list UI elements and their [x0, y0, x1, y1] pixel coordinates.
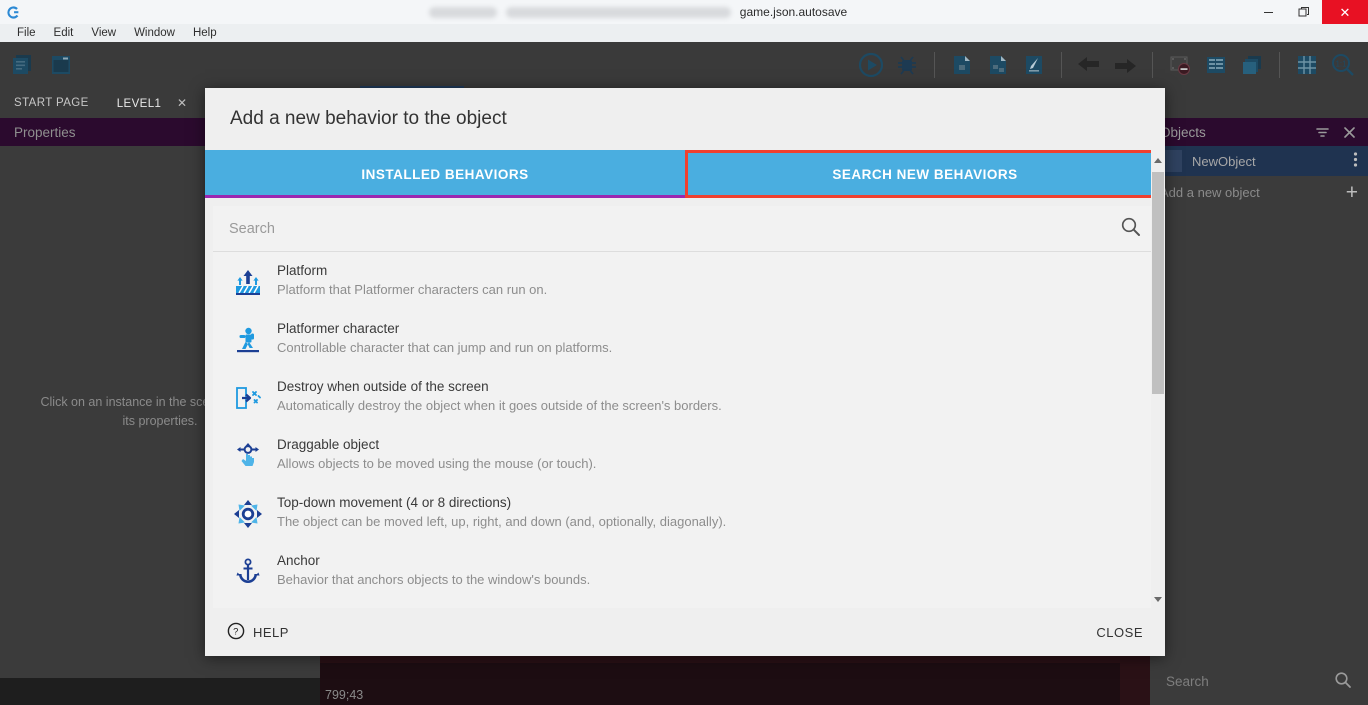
dialog-tab-bar: INSTALLED BEHAVIORS SEARCH NEW BEHAVIORS: [205, 150, 1165, 198]
behavior-description: Automatically destroy the object when it…: [277, 398, 1141, 413]
top-down-movement-icon: [231, 497, 265, 531]
behavior-name: Platform: [277, 263, 1141, 278]
menu-item-window[interactable]: Window: [125, 24, 184, 42]
help-button[interactable]: ? HELP: [227, 622, 289, 643]
list-item[interactable]: Top-down movement (4 or 8 directions) Th…: [213, 484, 1157, 542]
close-icon[interactable]: [1341, 124, 1358, 141]
window-controls: ✕: [1250, 0, 1368, 24]
add-scene-icon[interactable]: [947, 50, 977, 80]
help-circle-icon: ?: [227, 622, 245, 643]
toolbar-right-group: 1:1: [856, 50, 1368, 80]
toolbar-separator: [1152, 52, 1153, 78]
close-icon[interactable]: ✕: [177, 96, 187, 110]
redacted-path-part-2: [506, 7, 731, 18]
menu-item-view[interactable]: View: [82, 24, 125, 42]
list-item[interactable]: Anchor Behavior that anchors objects to …: [213, 542, 1157, 600]
new-project-icon[interactable]: [8, 50, 38, 80]
scene-viewport[interactable]: 799;43: [320, 663, 1120, 705]
toolbar-left-group: [0, 50, 76, 80]
cursor-coordinates: 799;43: [325, 688, 363, 702]
behavior-search-field[interactable]: [213, 206, 1157, 252]
tab-installed-behaviors-label: INSTALLED BEHAVIORS: [361, 167, 528, 182]
gdevelop-logo-icon: [0, 0, 26, 24]
behavior-list[interactable]: Platform Platform that Platformer charac…: [213, 252, 1157, 608]
object-name-label: NewObject: [1192, 154, 1353, 169]
close-window-button[interactable]: ✕: [1322, 0, 1368, 24]
kebab-menu-icon[interactable]: [1353, 151, 1358, 171]
behavior-name: Platformer character: [277, 321, 1141, 336]
tab-start-page-label: START PAGE: [14, 97, 89, 109]
play-preview-icon[interactable]: [856, 50, 886, 80]
search-icon[interactable]: [1334, 671, 1352, 692]
objects-panel-header: Objects: [1150, 118, 1368, 146]
title-bar: game.json.autosave ✕: [0, 0, 1368, 24]
plus-icon: +: [1346, 182, 1358, 203]
application-window: game.json.autosave ✕ File Edit View Wind…: [0, 0, 1368, 705]
objects-panel-title: Objects: [1160, 125, 1304, 140]
objects-search-field[interactable]: Search: [1150, 657, 1368, 705]
instances-list-icon[interactable]: [1201, 50, 1231, 80]
objects-panel: Objects NewObject: [1150, 118, 1368, 705]
dialog-title: Add a new behavior to the object: [205, 88, 1165, 150]
tab-level1-label: LEVEL1: [117, 98, 162, 110]
objects-search-placeholder: Search: [1166, 674, 1334, 689]
behavior-text: Draggable object Allows objects to be mo…: [277, 437, 1141, 471]
toolbar-separator: [1061, 52, 1062, 78]
delete-instances-icon[interactable]: [1165, 50, 1195, 80]
behavior-text: Platformer character Controllable charac…: [277, 321, 1141, 355]
behavior-text: Platform Platform that Platformer charac…: [277, 263, 1141, 297]
behavior-text: Destroy when outside of the screen Autom…: [277, 379, 1141, 413]
debug-icon[interactable]: [892, 50, 922, 80]
minimize-button[interactable]: [1250, 0, 1286, 24]
svg-text:?: ?: [233, 626, 239, 637]
behavior-text: Anchor Behavior that anchors objects to …: [277, 553, 1141, 587]
window-title: game.json.autosave: [26, 0, 1250, 24]
toolbar-separator: [934, 52, 935, 78]
search-icon[interactable]: [1120, 216, 1141, 242]
close-icon: ✕: [1340, 6, 1351, 19]
layers-icon[interactable]: [1237, 50, 1267, 80]
filter-icon[interactable]: [1314, 124, 1331, 141]
list-item[interactable]: Platform Platform that Platformer charac…: [213, 252, 1157, 310]
add-new-object-button[interactable]: Add a new object +: [1150, 176, 1368, 208]
menu-bar: File Edit View Window Help: [0, 24, 1368, 42]
list-item[interactable]: Draggable object Allows objects to be mo…: [213, 426, 1157, 484]
behavior-name: Draggable object: [277, 437, 1141, 452]
help-button-label: HELP: [253, 625, 289, 640]
tab-search-new-behaviors[interactable]: SEARCH NEW BEHAVIORS: [685, 150, 1165, 198]
behavior-name: Anchor: [277, 553, 1141, 568]
tab-start-page[interactable]: START PAGE: [0, 88, 103, 118]
redacted-path-part-1: [429, 7, 497, 18]
tab-search-new-behaviors-label: SEARCH NEW BEHAVIORS: [832, 167, 1017, 182]
add-behavior-dialog: Add a new behavior to the object INSTALL…: [205, 88, 1165, 656]
maximize-restore-button[interactable]: [1286, 0, 1322, 24]
menu-item-edit[interactable]: Edit: [45, 24, 83, 42]
dialog-footer: ? HELP CLOSE: [205, 608, 1165, 656]
platformer-character-icon: [231, 323, 265, 357]
add-external-layout-icon[interactable]: [983, 50, 1013, 80]
zoom-one-to-one-icon[interactable]: 1:1: [1328, 50, 1358, 80]
behavior-name: Destroy when outside of the screen: [277, 379, 1141, 394]
add-external-events-icon[interactable]: [1019, 50, 1049, 80]
menu-item-help[interactable]: Help: [184, 24, 226, 42]
close-dialog-button[interactable]: CLOSE: [1096, 625, 1143, 640]
menu-item-file[interactable]: File: [8, 24, 45, 42]
behavior-text: Top-down movement (4 or 8 directions) Th…: [277, 495, 1141, 529]
grid-icon[interactable]: [1292, 50, 1322, 80]
undo-icon[interactable]: [1074, 50, 1104, 80]
object-list-item-newobject[interactable]: NewObject: [1150, 146, 1368, 176]
behavior-name: Top-down movement (4 or 8 directions): [277, 495, 1141, 510]
behavior-description: Platform that Platformer characters can …: [277, 282, 1141, 297]
list-item[interactable]: Destroy when outside of the screen Autom…: [213, 368, 1157, 426]
add-new-object-label: Add a new object: [1160, 185, 1346, 200]
toolbar-separator: [1279, 52, 1280, 78]
main-toolbar: 1:1: [0, 42, 1368, 88]
tab-installed-behaviors[interactable]: INSTALLED BEHAVIORS: [205, 150, 685, 198]
properties-panel-title: Properties: [14, 125, 76, 140]
draggable-object-icon: [231, 439, 265, 473]
close-dialog-label: CLOSE: [1096, 625, 1143, 640]
behavior-description: Behavior that anchors objects to the win…: [277, 572, 1141, 587]
window-title-filename: game.json.autosave: [740, 5, 847, 19]
tab-level1[interactable]: LEVEL1 ✕: [103, 88, 202, 119]
behavior-description: Allows objects to be moved using the mou…: [277, 456, 1141, 471]
search-input[interactable]: [229, 221, 1120, 237]
list-item[interactable]: Platformer character Controllable charac…: [213, 310, 1157, 368]
svg-text:1:1: 1:1: [1335, 60, 1347, 69]
behavior-description: Controllable character that can jump and…: [277, 340, 1141, 355]
redo-icon[interactable]: [1110, 50, 1140, 80]
open-project-icon[interactable]: [46, 50, 76, 80]
anchor-icon: [231, 555, 265, 589]
destroy-outside-screen-icon: [231, 381, 265, 415]
platform-icon: [231, 265, 265, 299]
behavior-description: The object can be moved left, up, right,…: [277, 514, 1141, 529]
